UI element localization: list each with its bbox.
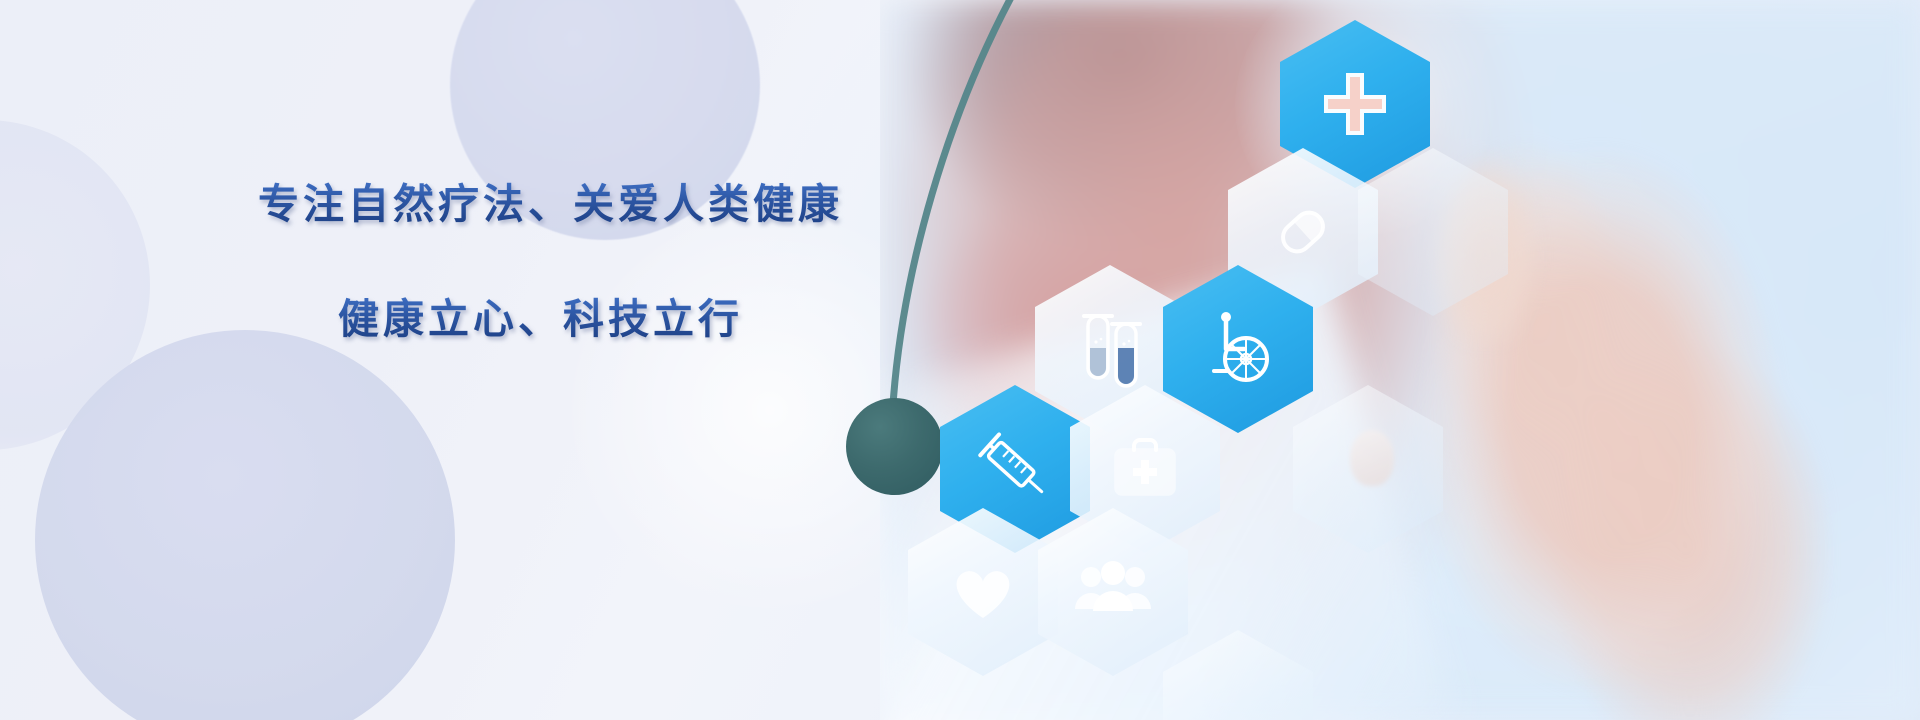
hex-decorative-lower-right [1293, 385, 1443, 553]
people-group-icon [1069, 551, 1157, 633]
headline-line-1: 专注自然疗法、关爱人类健康 [258, 180, 878, 228]
first-aid-kit-icon [1104, 428, 1186, 510]
test-tubes-icon [1070, 306, 1150, 392]
decorative-circle-bottom [35, 330, 455, 720]
pill-capsule-icon [1261, 190, 1345, 274]
syringe-icon [970, 424, 1060, 514]
hero-banner: 专注自然疗法、关爱人类健康 健康立心、科技立行 [0, 0, 1920, 720]
hexagon-icon-cluster [880, 0, 1920, 720]
hex-decorative-bottom [1163, 630, 1313, 720]
headline-block: 专注自然疗法、关爱人类健康 健康立心、科技立行 [258, 180, 878, 343]
headline-line-2: 健康立心、科技立行 [338, 295, 878, 343]
wheelchair-icon [1196, 307, 1280, 391]
heart-icon [943, 552, 1023, 632]
medical-cross-icon [1316, 65, 1394, 143]
